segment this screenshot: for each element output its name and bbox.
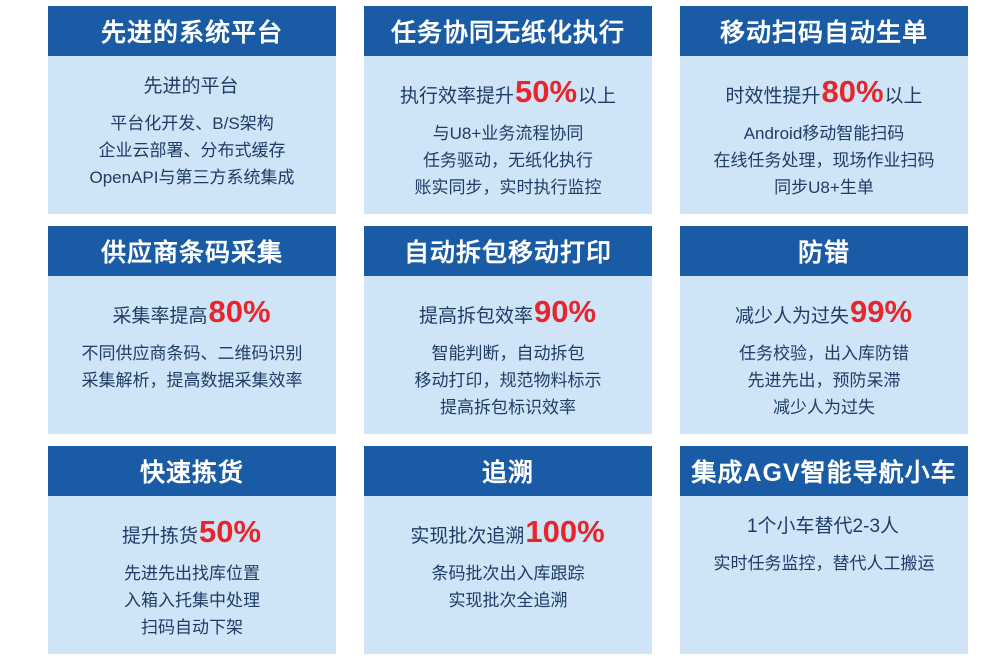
- highlight-number: 50%: [514, 76, 578, 107]
- detail-line: 实现批次全追溯: [432, 588, 585, 615]
- detail-line: 条码批次出入库跟踪: [432, 561, 585, 588]
- highlight-suffix: 以上: [885, 86, 923, 109]
- detail-line: 同步U8+生单: [714, 175, 935, 202]
- card-title: 自动拆包移动打印: [364, 226, 652, 276]
- highlight-suffix: 以上: [578, 86, 616, 109]
- card-body: 时效性提升 80% 以上 Android移动智能扫码 在线任务处理，现场作业扫码…: [680, 56, 968, 214]
- card-title: 追溯: [364, 446, 652, 496]
- highlight-prefix: 提升拣货: [122, 526, 198, 549]
- feature-card: 防错 减少人为过失 99% 任务校验，出入库防错 先进先出，预防呆滞 减少人为过…: [680, 226, 968, 434]
- detail-line: 入箱入托集中处理: [124, 588, 260, 615]
- card-highlight: 执行效率提升 50% 以上: [400, 76, 616, 109]
- card-title: 先进的系统平台: [48, 6, 336, 56]
- feature-card: 先进的系统平台 先进的平台 平台化开发、B/S架构 企业云部署、分布式缓存 Op…: [48, 6, 336, 214]
- card-body: 采集率提高 80% 不同供应商条码、二维码识别 采集解析，提高数据采集效率: [48, 276, 336, 434]
- highlight-number: 99%: [849, 296, 913, 327]
- detail-line: 实时任务监控，替代人工搬运: [714, 551, 935, 578]
- detail-line: 账实同步，实时执行监控: [415, 175, 602, 202]
- card-title: 移动扫码自动生单: [680, 6, 968, 56]
- detail-line: 提高拆包标识效率: [415, 395, 602, 422]
- highlight-prefix: 减少人为过失: [735, 306, 849, 329]
- highlight-number: 80%: [207, 296, 271, 327]
- card-body: 先进的平台 平台化开发、B/S架构 企业云部署、分布式缓存 OpenAPI与第三…: [48, 56, 336, 214]
- detail-line: Android移动智能扫码: [714, 121, 935, 148]
- card-highlight: 实现批次追溯 100%: [410, 516, 605, 549]
- card-highlight: 提升拣货 50%: [122, 516, 262, 549]
- detail-line: 平台化开发、B/S架构: [90, 111, 295, 138]
- detail-line: 不同供应商条码、二维码识别: [82, 341, 303, 368]
- highlight-number: 50%: [198, 516, 262, 547]
- card-details: 任务校验，出入库防错 先进先出，预防呆滞 减少人为过失: [739, 341, 909, 422]
- card-details: 平台化开发、B/S架构 企业云部署、分布式缓存 OpenAPI与第三方系统集成: [90, 111, 295, 192]
- highlight-prefix: 执行效率提升: [400, 86, 514, 109]
- highlight-prefix: 1个小车替代2-3人: [747, 516, 899, 539]
- highlight-prefix: 提高拆包效率: [419, 306, 533, 329]
- highlight-prefix: 采集率提高: [112, 306, 207, 329]
- detail-line: 减少人为过失: [739, 395, 909, 422]
- detail-line: 移动打印，规范物料标示: [415, 368, 602, 395]
- feature-card: 自动拆包移动打印 提高拆包效率 90% 智能判断，自动拆包 移动打印，规范物料标…: [364, 226, 652, 434]
- card-highlight: 提高拆包效率 90%: [419, 296, 597, 329]
- highlight-number: 90%: [533, 296, 597, 327]
- card-details: 智能判断，自动拆包 移动打印，规范物料标示 提高拆包标识效率: [415, 341, 602, 422]
- detail-line: 任务校验，出入库防错: [739, 341, 909, 368]
- highlight-prefix: 时效性提升: [725, 86, 820, 109]
- card-highlight: 先进的平台: [143, 76, 240, 99]
- detail-line: 企业云部署、分布式缓存: [90, 138, 295, 165]
- card-body: 提高拆包效率 90% 智能判断，自动拆包 移动打印，规范物料标示 提高拆包标识效…: [364, 276, 652, 434]
- card-highlight: 采集率提高 80%: [112, 296, 271, 329]
- detail-line: 与U8+业务流程协同: [415, 121, 602, 148]
- card-title: 快速拣货: [48, 446, 336, 496]
- feature-card: 快速拣货 提升拣货 50% 先进先出找库位置 入箱入托集中处理 扫码自动下架: [48, 446, 336, 654]
- card-details: 与U8+业务流程协同 任务驱动，无纸化执行 账实同步，实时执行监控: [415, 121, 602, 202]
- card-details: 实时任务监控，替代人工搬运: [714, 551, 935, 578]
- card-highlight: 1个小车替代2-3人: [747, 516, 901, 539]
- feature-card: 追溯 实现批次追溯 100% 条码批次出入库跟踪 实现批次全追溯: [364, 446, 652, 654]
- card-highlight: 时效性提升 80% 以上: [725, 76, 922, 109]
- highlight-prefix: 实现批次追溯: [410, 526, 524, 549]
- detail-line: 采集解析，提高数据采集效率: [82, 368, 303, 395]
- card-body: 执行效率提升 50% 以上 与U8+业务流程协同 任务驱动，无纸化执行 账实同步…: [364, 56, 652, 214]
- feature-card: 集成AGV智能导航小车 1个小车替代2-3人 实时任务监控，替代人工搬运: [680, 446, 968, 654]
- feature-card-grid: 先进的系统平台 先进的平台 平台化开发、B/S架构 企业云部署、分布式缓存 Op…: [0, 0, 1000, 668]
- card-title: 集成AGV智能导航小车: [680, 446, 968, 496]
- feature-card: 移动扫码自动生单 时效性提升 80% 以上 Android移动智能扫码 在线任务…: [680, 6, 968, 214]
- highlight-number: 100%: [524, 516, 605, 547]
- card-details: 不同供应商条码、二维码识别 采集解析，提高数据采集效率: [82, 341, 303, 395]
- detail-line: 先进先出找库位置: [124, 561, 260, 588]
- detail-line: 任务驱动，无纸化执行: [415, 148, 602, 175]
- detail-line: OpenAPI与第三方系统集成: [90, 165, 295, 192]
- detail-line: 在线任务处理，现场作业扫码: [714, 148, 935, 175]
- card-details: 条码批次出入库跟踪 实现批次全追溯: [432, 561, 585, 615]
- feature-card: 供应商条码采集 采集率提高 80% 不同供应商条码、二维码识别 采集解析，提高数…: [48, 226, 336, 434]
- card-details: Android移动智能扫码 在线任务处理，现场作业扫码 同步U8+生单: [714, 121, 935, 202]
- card-title: 供应商条码采集: [48, 226, 336, 276]
- highlight-prefix: 先进的平台: [143, 76, 238, 99]
- card-body: 提升拣货 50% 先进先出找库位置 入箱入托集中处理 扫码自动下架: [48, 496, 336, 654]
- detail-line: 智能判断，自动拆包: [415, 341, 602, 368]
- card-title: 任务协同无纸化执行: [364, 6, 652, 56]
- highlight-number: 80%: [820, 76, 884, 107]
- card-body: 实现批次追溯 100% 条码批次出入库跟踪 实现批次全追溯: [364, 496, 652, 654]
- detail-line: 扫码自动下架: [124, 615, 260, 642]
- card-highlight: 减少人为过失 99%: [735, 296, 913, 329]
- card-body: 1个小车替代2-3人 实时任务监控，替代人工搬运: [680, 496, 968, 654]
- card-title: 防错: [680, 226, 968, 276]
- feature-card: 任务协同无纸化执行 执行效率提升 50% 以上 与U8+业务流程协同 任务驱动，…: [364, 6, 652, 214]
- detail-line: 先进先出，预防呆滞: [739, 368, 909, 395]
- card-body: 减少人为过失 99% 任务校验，出入库防错 先进先出，预防呆滞 减少人为过失: [680, 276, 968, 434]
- card-details: 先进先出找库位置 入箱入托集中处理 扫码自动下架: [124, 561, 260, 642]
